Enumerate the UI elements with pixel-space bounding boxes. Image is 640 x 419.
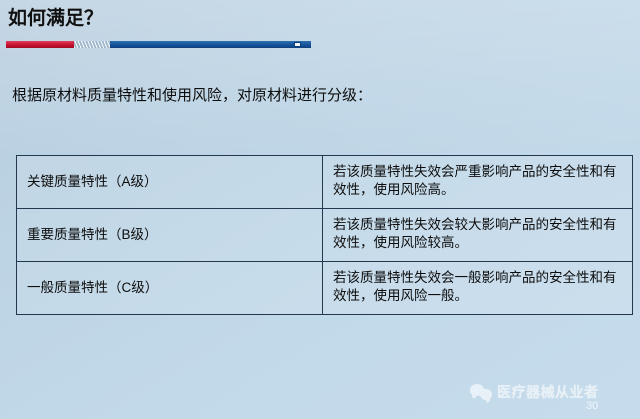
- slide-canvas: 如何满足？ 根据原材料质量特性和使用风险，对原材料进行分级： 关键质量特性（A级…: [0, 0, 640, 419]
- grade-description-cell: 若该质量特性失效会较大影响产品的安全性和有效性，使用风险较高。: [323, 209, 633, 262]
- divider-knob-marker: [294, 42, 301, 47]
- grade-characteristic-cell: 重要质量特性（B级）: [17, 209, 323, 262]
- divider-blue-segment: [110, 41, 311, 48]
- divider-coil-segment: [74, 41, 110, 48]
- page-number: 30: [586, 400, 598, 412]
- title-divider-bar: [6, 41, 311, 48]
- table-row: 一般质量特性（C级） 若该质量特性失效会一般影响产品的安全性和有效性，使用风险一…: [17, 262, 633, 315]
- grade-characteristic-cell: 关键质量特性（A级）: [17, 156, 323, 209]
- watermark: 医疗器械从业者: [470, 382, 599, 402]
- slide-title: 如何满足？: [8, 6, 103, 32]
- grade-characteristic-cell: 一般质量特性（C级）: [17, 262, 323, 315]
- grade-description-cell: 若该质量特性失效会严重影响产品的安全性和有效性，使用风险高。: [323, 156, 633, 209]
- divider-red-segment: [6, 41, 74, 48]
- grade-description-cell: 若该质量特性失效会一般影响产品的安全性和有效性，使用风险一般。: [323, 262, 633, 315]
- table-row: 关键质量特性（A级） 若该质量特性失效会严重影响产品的安全性和有效性，使用风险高…: [17, 156, 633, 209]
- lead-paragraph: 根据原材料质量特性和使用风险，对原材料进行分级：: [12, 85, 372, 107]
- grade-table: 关键质量特性（A级） 若该质量特性失效会严重影响产品的安全性和有效性，使用风险高…: [16, 155, 633, 315]
- watermark-label: 医疗器械从业者: [497, 382, 599, 402]
- table-row: 重要质量特性（B级） 若该质量特性失效会较大影响产品的安全性和有效性，使用风险较…: [17, 209, 633, 262]
- wechat-icon: [470, 383, 492, 401]
